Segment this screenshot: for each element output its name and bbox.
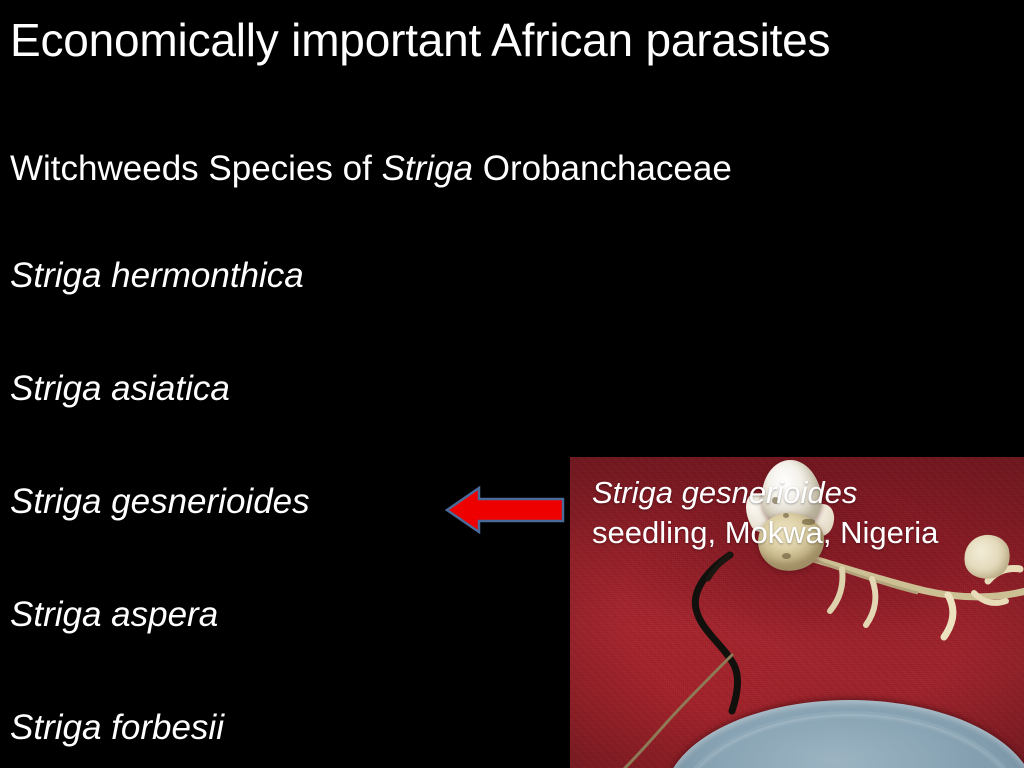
photo-caption: Striga gesnerioides seedling, Mokwa, Nig… xyxy=(592,473,1012,553)
subtitle-after: Orobanchaceae xyxy=(473,149,732,188)
caption-species-italic: Striga gesnerioides xyxy=(592,473,1012,513)
list-item: Striga hermonthica xyxy=(10,256,570,369)
seedling-spot xyxy=(782,553,791,559)
subtitle-genus-italic: Striga xyxy=(382,149,473,188)
page-title: Economically important African parasites xyxy=(10,14,990,66)
caption-location: seedling, Mokwa, Nigeria xyxy=(592,513,1012,553)
subtitle-line: Witchweeds Species of Striga Orobanchace… xyxy=(10,148,732,190)
left-arrow-icon xyxy=(443,483,567,537)
list-item: Striga forbesii xyxy=(10,708,570,768)
subtitle-before: Witchweeds Species of xyxy=(10,149,382,188)
seedling-root-tail xyxy=(616,653,736,768)
list-item: Striga asiatica xyxy=(10,369,570,482)
slide-canvas: Economically important African parasites… xyxy=(0,0,1024,768)
list-item: Striga aspera xyxy=(10,595,570,708)
photo-panel: C I U E xyxy=(570,457,1024,768)
